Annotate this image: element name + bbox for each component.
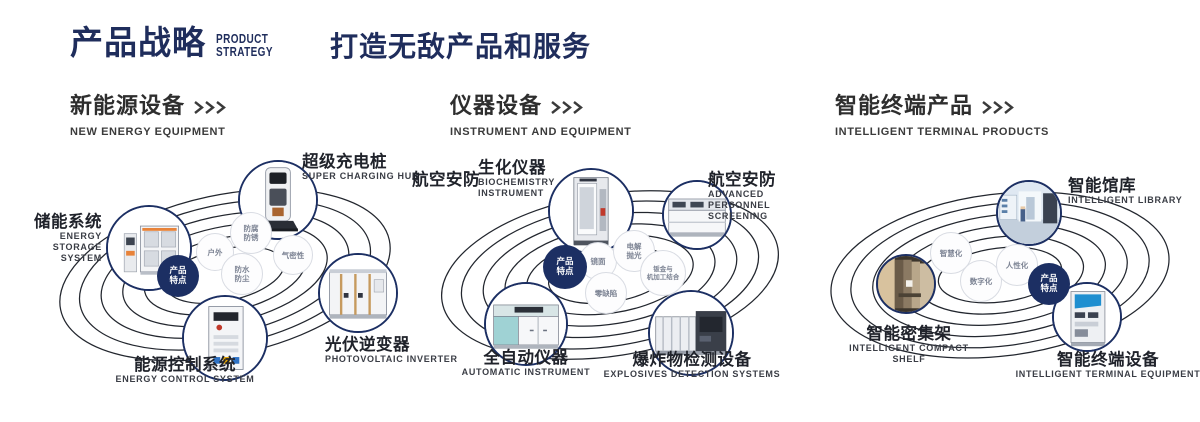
core-bubble-product-features: 产品 特点 [543,245,587,289]
feature-line2: 抛光 [627,251,642,260]
section-title-intelligent: 智能终端产品 INTELLIGENT TERMINAL PRODUCTS [835,96,1049,138]
feature-line1: 智慧化 [940,249,963,258]
section-title-en: NEW ENERGY EQUIPMENT [70,126,228,138]
core-line1: 产品 [1040,274,1057,284]
section-title-new-energy: 新能源设备 NEW ENERGY EQUIPMENT [70,96,228,138]
section-title-en: INSTRUMENT AND EQUIPMENT [450,126,631,138]
feature-line1: 零缺陷 [595,289,618,298]
feature-line2: 防锈 [244,233,259,242]
label-cn: 能源控制系统 [70,355,300,374]
core-line1: 产品 [556,257,573,267]
cluster-instrument: 生化仪器 BIOCHEMISTRY INSTRUMENT 航空安防 航空安防 A… [412,150,812,410]
feature-line1: 钣金与 [647,265,680,273]
page-title: 产品战略 [70,26,206,59]
feature-line1: 户外 [208,248,223,257]
label-en: ENERGY CONTROL SYSTEM [70,374,300,385]
chevron-right-icon [551,101,585,114]
inverter-cabinet-icon [320,255,396,331]
section-title-instrument: 仪器设备 INSTRUMENT AND EQUIPMENT [450,96,631,138]
compact-shelf-icon [878,256,934,312]
label-cn: 智能馆库 [1068,176,1200,195]
chevron-right-icon [982,101,1016,114]
label-automatic-instrument: 全自动仪器 AUTOMATIC INSTRUMENT [426,348,626,378]
core-line2: 特点 [556,267,573,277]
core-bubble-product-features: 产品 特点 [157,255,199,297]
section-title-cn: 仪器设备 [450,96,542,118]
feature-line1: 防腐 [244,224,259,233]
feature-line1: 气密性 [282,251,305,260]
poster-canvas: 产品战略 PRODUCT STRATEGY 打造无敌产品和服务 新能源设备 NE… [0,0,1200,422]
feature-bubble: 钣金与 机加工结合 [640,250,686,296]
feature-bubble: 防水 防尘 [221,253,263,295]
cluster-new-energy: 储能系统 ENERGY STORAGE SYSTEM 超级充电桩 SUPER C… [30,150,430,410]
section-title-en: INTELLIGENT TERMINAL PRODUCTS [835,126,1049,138]
label-cn: 智能终端设备 [1008,350,1200,369]
label-cn: 智能密集架 [820,324,998,343]
feature-line1: 防水 [235,265,250,274]
feature-line1: 数字化 [970,277,993,286]
feature-line2: 防尘 [235,274,250,283]
poster-header: 产品战略 PRODUCT STRATEGY [70,26,287,59]
core-bubble-product-features: 产品 特点 [1028,263,1070,305]
label-overlay-aviation-security: 航空安防 [412,170,492,189]
label-en: AUTOMATIC INSTRUMENT [426,367,626,378]
page-title-en-line2: STRATEGY [216,46,273,59]
feature-line2: 机加工结合 [647,273,680,281]
feature-line1: 镜面 [591,257,606,266]
label-terminal-equipment: 智能终端设备 INTELLIGENT TERMINAL EQUIPMENT [1008,350,1200,380]
library-room-icon [998,182,1060,244]
chevron-right-icon [194,101,228,114]
label-intelligent-library: 智能馆库 INTELLIGENT LIBRARY [1068,176,1200,206]
node-pv-inverter[interactable] [318,253,398,333]
core-line2: 特点 [169,276,186,286]
label-en: INTELLIGENT TERMINAL EQUIPMENT [1008,369,1200,380]
page-subtitle: 打造无敌产品和服务 [330,33,591,61]
label-compact-shelf: 智能密集架 INTELLIGENT COMPACT SHELF [820,324,998,365]
label-energy-storage: 储能系统 ENERGY STORAGE SYSTEM [30,212,102,264]
label-en: ADVANCED PERSONNEL SCREENING [708,189,800,222]
page-title-en: PRODUCT STRATEGY [216,33,273,58]
label-cn: 航空安防 [412,170,492,189]
node-intelligent-library[interactable] [996,180,1062,246]
section-title-cn: 智能终端产品 [835,96,973,118]
label-cn: 全自动仪器 [426,348,626,367]
core-line1: 产品 [169,266,186,276]
page-title-en-line1: PRODUCT [216,33,273,46]
cluster-intelligent-terminal: 智能馆库 INTELLIGENT LIBRARY 智能终端设备 INTELLIG… [800,150,1200,410]
node-compact-shelf[interactable] [876,254,936,314]
feature-bubble: 防腐 防锈 [230,212,272,254]
label-cn: 生化仪器 [478,158,610,177]
core-line2: 特点 [1040,284,1057,294]
feature-bubble: 零缺陷 [585,272,627,314]
feature-bubble: 气密性 [273,235,313,275]
feature-line1: 电解 [627,242,642,251]
label-en: INTELLIGENT LIBRARY [1068,195,1200,206]
label-en: ENERGY STORAGE SYSTEM [30,231,102,264]
label-energy-control: 能源控制系统 ENERGY CONTROL SYSTEM [70,355,300,385]
feature-line1: 人性化 [1006,261,1029,270]
section-title-cn: 新能源设备 [70,96,185,118]
label-cn: 储能系统 [30,212,102,231]
label-en: INTELLIGENT COMPACT SHELF [820,343,998,365]
